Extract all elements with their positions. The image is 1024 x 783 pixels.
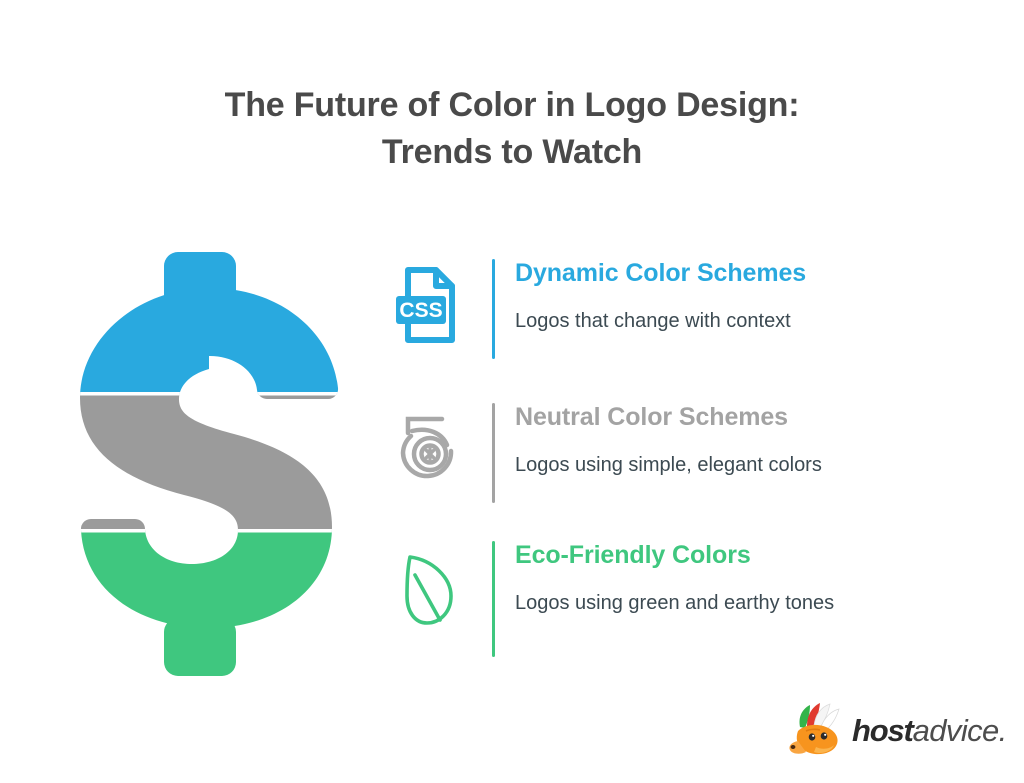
hostadvice-fox-logo [786,701,848,759]
leaf-icon [392,537,468,637]
logo-wordmark-bold: host [852,713,913,748]
logo-wordmark: hostadvice. [852,715,1007,746]
logo-wordmark-light: advice. [913,713,1007,748]
trend-item: Neutral Color Schemes Logos using simple… [392,399,952,507]
trend-item: Eco-Friendly Colors Logos using green an… [392,537,952,667]
trend-body: Logos using green and earthy tones [515,588,845,618]
css-file-icon: CSS [392,255,468,355]
page-title-line-2: Trends to Watch [0,129,1024,176]
trend-text-group: Eco-Friendly Colors Logos using green an… [495,537,952,618]
trend-body: Logos that change with context [515,306,845,336]
abstract-spiral-icon [392,399,468,499]
infographic-canvas: The Future of Color in Logo Design: Tren… [0,0,1024,783]
trend-heading: Neutral Color Schemes [515,401,952,433]
trend-heading: Eco-Friendly Colors [515,539,952,571]
trend-heading: Dynamic Color Schemes [515,257,952,289]
dollar-sign-graphic [70,248,350,680]
hostadvice-logo: hostadvice. [786,699,1007,761]
css-badge-label: CSS [399,299,442,322]
trend-body: Logos using simple, elegant colors [515,450,845,480]
trend-item: CSS Dynamic Color Schemes Logos that cha… [392,255,952,363]
page-title-line-1: The Future of Color in Logo Design: [0,82,1024,129]
trend-list: CSS Dynamic Color Schemes Logos that cha… [392,255,952,667]
trend-text-group: Dynamic Color Schemes Logos that change … [495,255,952,336]
page-title: The Future of Color in Logo Design: Tren… [0,82,1024,176]
trend-text-group: Neutral Color Schemes Logos using simple… [495,399,952,480]
